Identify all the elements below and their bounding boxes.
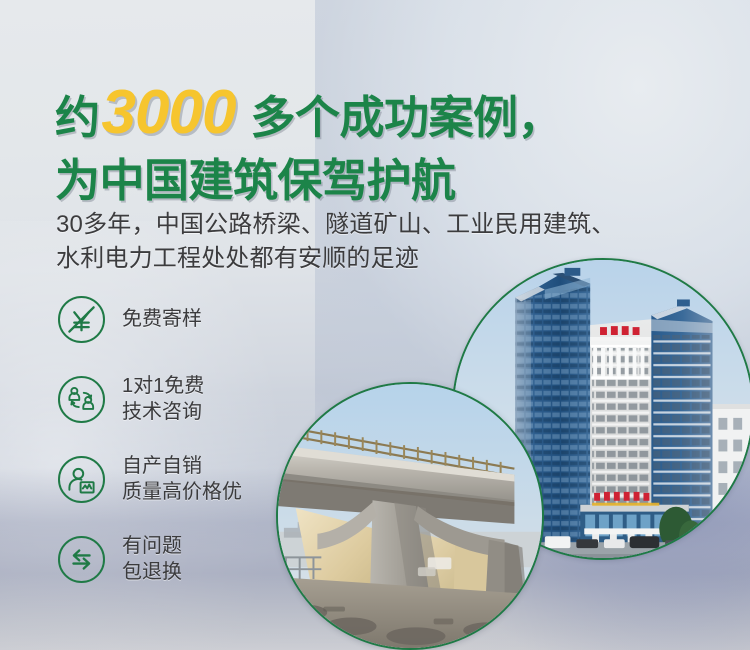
feature-label-line-1: 有问题 [122, 534, 182, 560]
exchange-arrows-icon [58, 536, 105, 583]
no-fee-yuan-icon [58, 296, 105, 343]
feature-item-free-sample: 免费寄样 [58, 296, 202, 343]
feature-label-line-1: 免费寄样 [122, 308, 202, 330]
feature-label-line-2: 包退换 [122, 560, 182, 586]
feature-label-line-1: 自产自销 [122, 454, 242, 480]
headline: 约3000多个成功案例， 为中国建筑保驾护航 [55, 82, 695, 203]
feature-item-consulting: 1对1免费 技术咨询 [58, 374, 204, 425]
subcopy: 30多年，中国公路桥梁、隧道矿山、工业民用建筑、 水利电力工程处处都有安顺的足迹 [56, 208, 716, 276]
two-people-exchange-icon [58, 376, 105, 423]
feature-label-line-2: 技术咨询 [122, 400, 204, 426]
feature-item-own-production: 自产自销 质量高价格优 [58, 454, 242, 505]
feature-label: 自产自销 质量高价格优 [122, 454, 242, 505]
person-chart-icon [58, 456, 105, 503]
headline-line-1: 约3000多个成功案例， [55, 82, 695, 144]
bridge-photo [276, 382, 544, 650]
subcopy-line-1: 30多年，中国公路桥梁、隧道矿山、工业民用建筑、 [56, 208, 716, 242]
promo-banner: 约3000多个成功案例， 为中国建筑保驾护航 30多年，中国公路桥梁、隧道矿山、… [0, 0, 750, 650]
headline-suffix: 多个成功案例， [250, 92, 562, 143]
feature-label: 1对1免费 技术咨询 [122, 374, 204, 425]
feature-label: 有问题 包退换 [122, 534, 182, 585]
headline-number: 3000 [100, 78, 242, 147]
feature-item-return-exchange: 有问题 包退换 [58, 534, 182, 585]
headline-prefix: 约 [55, 92, 100, 143]
feature-label-line-2: 质量高价格优 [122, 480, 242, 506]
feature-label-line-1: 1对1免费 [122, 374, 204, 400]
headline-line-2: 为中国建筑保驾护航 [55, 158, 695, 203]
subcopy-line-2: 水利电力工程处处都有安顺的足迹 [56, 242, 716, 276]
feature-label: 免费寄样 [122, 307, 202, 333]
